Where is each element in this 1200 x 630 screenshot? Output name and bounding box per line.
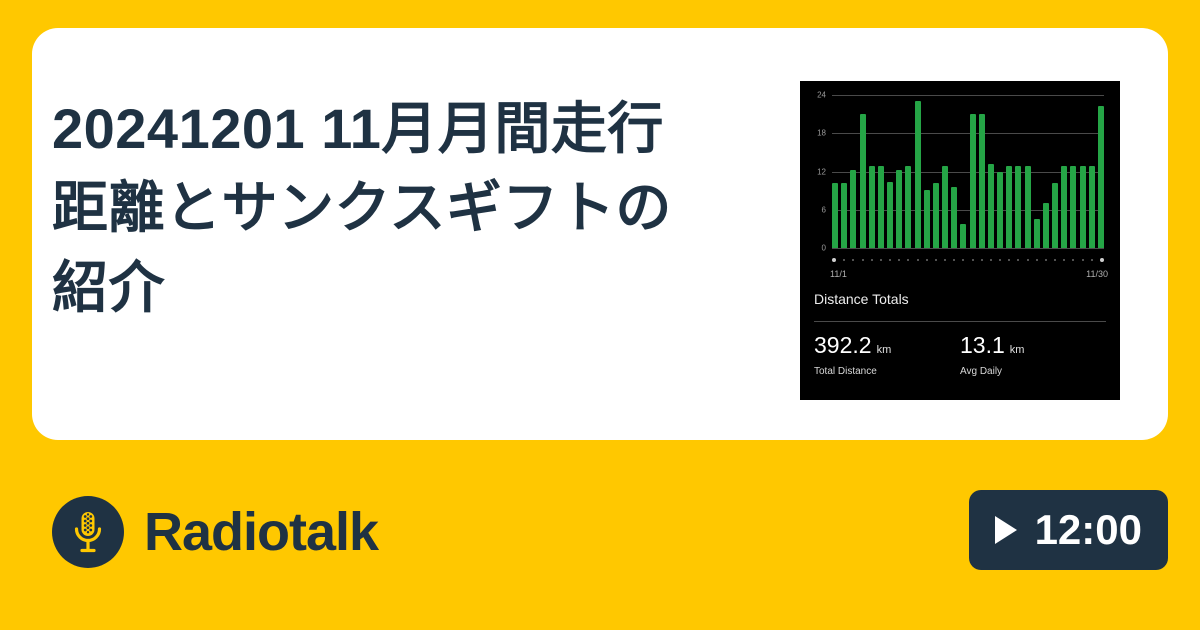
chart-day-dot: [972, 259, 974, 261]
chart-day-dot: [843, 259, 845, 261]
episode-title-wrap: 20241201 11月月間走行距離とサンクスギフトの紹介: [52, 58, 712, 358]
chart-day-dot: [981, 259, 983, 261]
chart-bar: [915, 101, 921, 248]
chart-bar: [979, 114, 985, 248]
brand-name: Radiotalk: [144, 505, 378, 559]
chart-bar: [1034, 219, 1040, 248]
stat-unit: km: [877, 344, 892, 356]
chart-bar: [997, 172, 1003, 249]
chart-bar: [1006, 166, 1012, 248]
chart-day-dot: [898, 259, 900, 261]
page-title: 20241201 11月月間走行距離とサンクスギフトの紹介: [52, 89, 712, 328]
chart-day-dot: [852, 259, 854, 261]
chart-day-dot: [962, 259, 964, 261]
chart-day-dot: [880, 259, 882, 261]
chart-bar: [887, 182, 893, 248]
chart-day-dot: [999, 259, 1001, 261]
stat-value-row: 13.1 km: [960, 334, 1096, 357]
chart-day-dot: [926, 259, 928, 261]
chart-bar: [1070, 166, 1076, 248]
chart-day-dot: [944, 259, 946, 261]
chart-bar: [1098, 106, 1104, 248]
chart-bar: [841, 183, 847, 248]
chart-day-dot: [1045, 259, 1047, 261]
x-axis-label-start: 11/1: [830, 269, 847, 279]
footer-bar: Radiotalk 12:00: [0, 440, 1200, 630]
chart-day-dots: [832, 257, 1104, 263]
stat-grid: 392.2 km Total Distance 13.1 km Avg Dail…: [814, 321, 1106, 377]
chart-bar: [832, 183, 838, 248]
chart-bar: [1089, 166, 1095, 248]
play-icon: [995, 516, 1017, 544]
chart-day-dot: [990, 259, 992, 261]
brand-logo-badge: [52, 496, 124, 568]
chart-bars: [832, 95, 1104, 248]
episode-thumbnail: 06121824 11/1 11/30 Distance Totals 392.…: [800, 81, 1120, 400]
chart-day-dot: [953, 259, 955, 261]
y-axis-tick-label: 0: [822, 244, 826, 253]
chart-day-dot: [862, 259, 864, 261]
play-duration-badge[interactable]: 12:00: [969, 490, 1168, 570]
microphone-icon: [68, 509, 108, 555]
chart-day-dot: [907, 259, 909, 261]
chart-day-dot: [1063, 259, 1065, 261]
chart-bar: [1025, 166, 1031, 248]
y-axis-tick-label: 18: [817, 129, 826, 138]
chart-bar: [869, 166, 875, 248]
chart-bar: [942, 166, 948, 248]
chart-bar: [850, 170, 856, 248]
chart-bar: [860, 114, 866, 249]
chart-day-dot: [1091, 259, 1093, 261]
stat-avg-daily: 13.1 km Avg Daily: [960, 321, 1106, 377]
chart-bar: [951, 187, 957, 248]
stat-label: Total Distance: [814, 366, 950, 377]
chart-bar: [933, 183, 939, 248]
chart-day-dot: [1008, 259, 1010, 261]
chart-day-dot: [1017, 259, 1019, 261]
chart-bar: [878, 166, 884, 248]
chart-day-dot: [1027, 259, 1029, 261]
chart-bar: [988, 164, 994, 248]
distance-totals-panel: Distance Totals 392.2 km Total Distance …: [800, 291, 1120, 377]
chart-bar: [1015, 166, 1021, 248]
chart-bar: [905, 166, 911, 248]
chart-bar: [1043, 203, 1049, 248]
chart-bar: [1061, 166, 1067, 248]
chart-day-dot: [1082, 259, 1084, 261]
stat-unit: km: [1010, 344, 1025, 356]
chart-day-dot: [1072, 259, 1074, 261]
stat-value-row: 392.2 km: [814, 334, 950, 357]
y-axis-tick-label: 24: [817, 91, 826, 100]
chart-gridline: 0: [832, 248, 1104, 249]
y-axis-tick-label: 12: [817, 167, 826, 176]
chart-day-dot: [832, 258, 836, 262]
chart-bar: [924, 190, 930, 248]
chart-day-dot: [935, 259, 937, 261]
stat-label: Avg Daily: [960, 366, 1096, 377]
chart-bar: [1052, 183, 1058, 248]
y-axis-tick-label: 6: [822, 205, 826, 214]
chart-x-axis-labels: 11/1 11/30: [830, 269, 1108, 279]
og-image-root: 20241201 11月月間走行距離とサンクスギフトの紹介 06121824 1…: [0, 0, 1200, 630]
brand-lockup[interactable]: Radiotalk: [52, 496, 378, 568]
stat-value: 13.1: [960, 334, 1005, 357]
chart-bar: [1080, 166, 1086, 248]
chart-day-dot: [1054, 259, 1056, 261]
duration-text: 12:00: [1035, 509, 1142, 551]
chart-bar: [896, 170, 902, 248]
chart-bar: [970, 114, 976, 249]
chart-bar: [960, 224, 966, 248]
stat-value: 392.2: [814, 334, 872, 357]
x-axis-label-end: 11/30: [1086, 269, 1108, 279]
chart-day-dot: [1036, 259, 1038, 261]
distance-totals-heading: Distance Totals: [814, 291, 1106, 307]
chart-day-dot: [889, 259, 891, 261]
distance-bar-chart: 06121824: [800, 81, 1120, 276]
chart-day-dot: [1100, 258, 1104, 262]
chart-day-dot: [871, 259, 873, 261]
chart-day-dot: [917, 259, 919, 261]
chart-plot-area: 06121824: [832, 95, 1104, 248]
stat-total-distance: 392.2 km Total Distance: [814, 321, 960, 377]
